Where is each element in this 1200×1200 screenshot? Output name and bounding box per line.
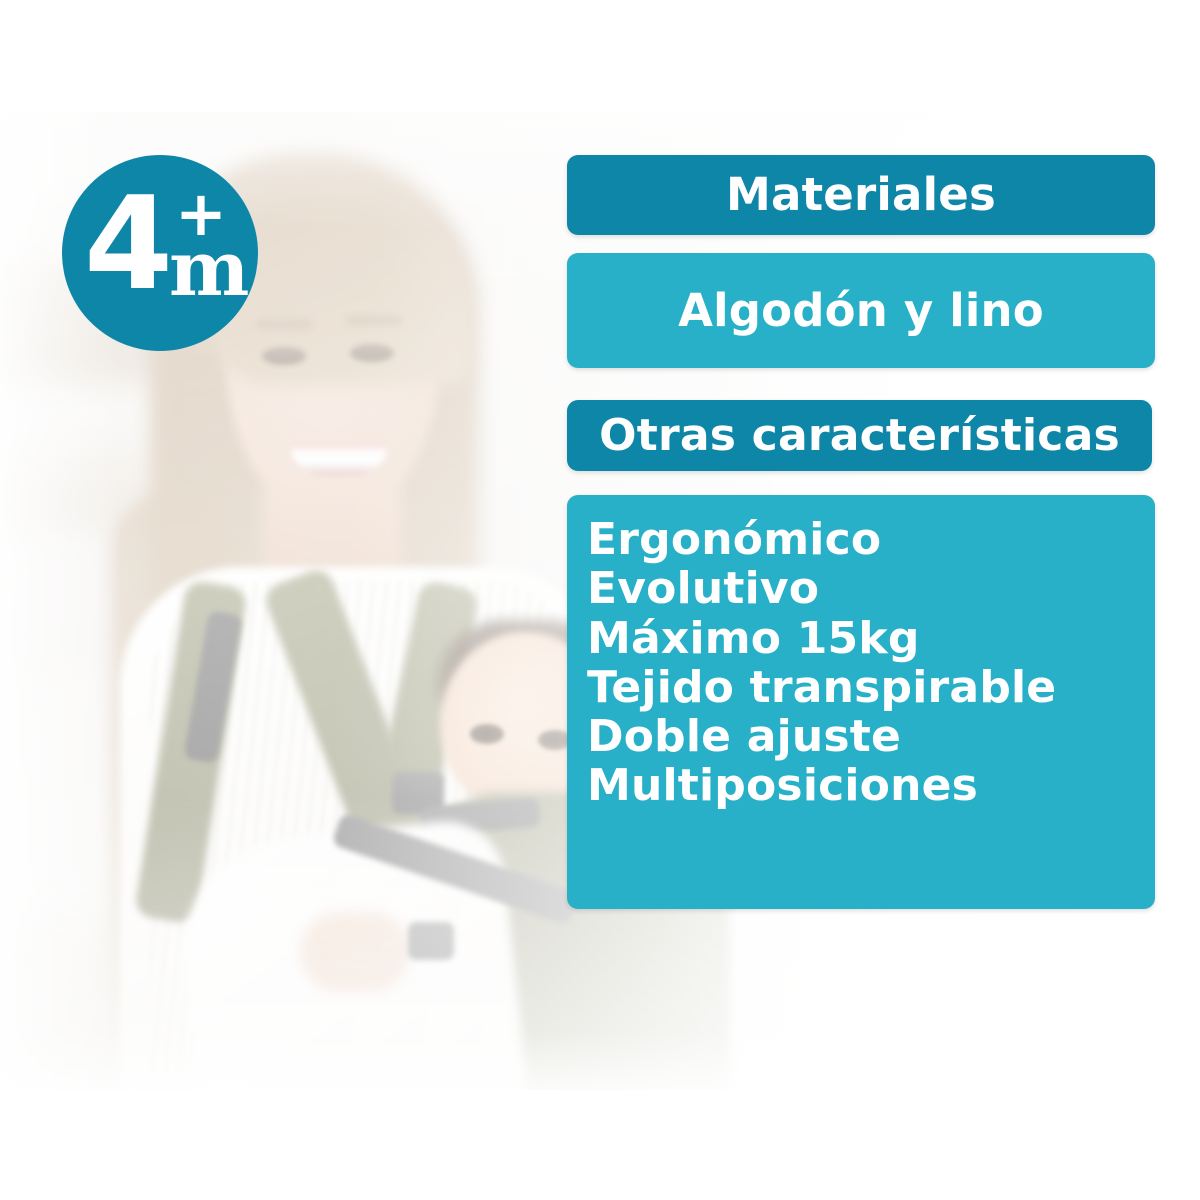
list-item: Máximo 15kg	[587, 614, 1155, 663]
age-badge-number: 4	[84, 181, 170, 309]
list-item: Evolutivo	[587, 564, 1155, 613]
age-badge-unit: m	[169, 231, 249, 307]
other-features-heading: Otras características	[567, 400, 1152, 471]
materials-value: Algodón y lino	[567, 253, 1155, 368]
spec-panel: Materiales Algodón y lino Otras caracter…	[567, 155, 1155, 909]
age-badge-glyphs: 4 + m	[62, 155, 258, 351]
list-item: Multiposiciones	[587, 761, 1155, 810]
list-item: Tejido transpirable	[587, 663, 1155, 712]
product-infographic: 4 + m Materiales Algodón y lino Otras ca…	[0, 0, 1200, 1200]
materials-heading: Materiales	[567, 155, 1155, 235]
features-list: Ergonómico Evolutivo Máximo 15kg Tejido …	[567, 495, 1155, 909]
list-item: Doble ajuste	[587, 712, 1155, 761]
list-item: Ergonómico	[587, 515, 1155, 564]
age-badge: 4 + m	[62, 155, 258, 351]
